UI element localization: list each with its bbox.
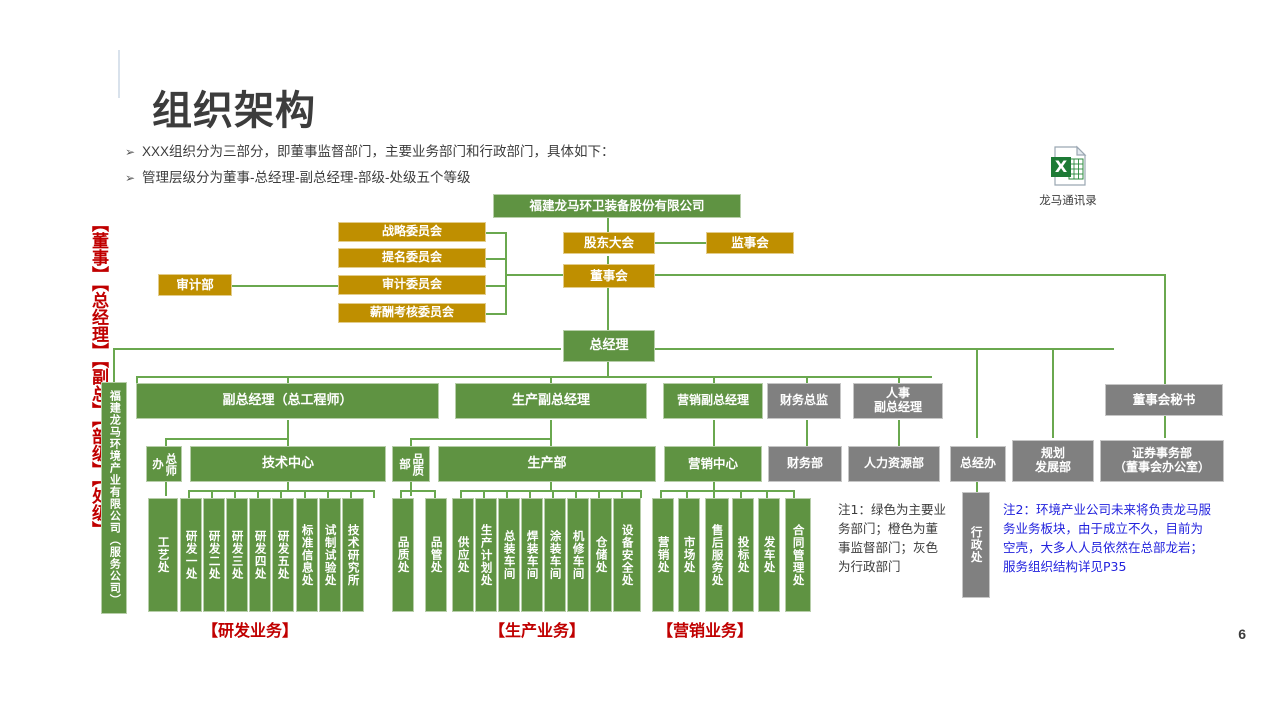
node-leaf-rd[interactable]: 试制试验处 [319, 498, 341, 612]
connector [793, 490, 795, 498]
connector [287, 482, 289, 490]
node-dept-marketing-center[interactable]: 营销中心 [664, 446, 762, 482]
connector [640, 490, 642, 498]
connector [1164, 420, 1166, 438]
note-service-company: 注2：环境产业公司未来将负责龙马服务业务板块，由于成立不久，目前为空壳，大多人人… [1003, 500, 1215, 576]
connector [485, 313, 507, 315]
connector [304, 490, 306, 498]
node-shareholders-meeting[interactable]: 股东大会 [563, 232, 655, 254]
connector [505, 274, 563, 276]
connector [1164, 274, 1166, 384]
connector [232, 285, 338, 287]
node-leaf-rd[interactable]: 研发一处 [180, 498, 202, 612]
node-leaf-mkt[interactable]: 市场处 [678, 498, 700, 612]
node-leaf-rd[interactable]: 研发二处 [203, 498, 225, 612]
node-vp-production[interactable]: 生产副总经理 [455, 383, 647, 419]
connector [165, 438, 167, 446]
connector [327, 490, 329, 498]
node-service-company[interactable]: 福建龙马环境产业有限公司（服务公司） [101, 382, 127, 614]
node-committee-strategy[interactable]: 战略委员会 [338, 222, 486, 242]
connector [529, 490, 531, 498]
node-leaf-prod[interactable]: 机修车间 [567, 498, 589, 612]
connector [506, 490, 508, 498]
connector [257, 490, 259, 498]
node-leaf-mkt[interactable]: 合同管理处 [785, 498, 811, 612]
connector [460, 490, 462, 498]
node-leaf-prod[interactable]: 品管处 [425, 498, 447, 612]
node-leaf-prod[interactable]: 供应处 [452, 498, 474, 612]
node-dept-planning-development[interactable]: 规划 发展部 [1012, 440, 1094, 482]
node-dept-chief-engineer-office[interactable]: 总师办 [146, 446, 182, 482]
node-vp-marketing[interactable]: 营销副总经理 [663, 383, 763, 419]
connector [505, 232, 507, 314]
connector [686, 490, 688, 498]
node-leaf-rd[interactable]: 标准信息处 [296, 498, 318, 612]
connector [113, 348, 115, 382]
connector [976, 482, 978, 492]
connector [660, 490, 793, 492]
node-vp-chief-engineer[interactable]: 副总经理（总工程师） [136, 383, 439, 419]
node-dept-gm-office[interactable]: 总经办 [950, 446, 1006, 482]
page-number: 6 [1238, 626, 1246, 642]
node-audit-department[interactable]: 审计部 [158, 274, 232, 296]
connector [607, 362, 609, 376]
node-dept-tech-center[interactable]: 技术中心 [190, 446, 386, 482]
tag-marketing-business: 【营销业务】 [657, 617, 753, 641]
org-chart: 福建龙马环卫装备股份有限公司 股东大会 监事会 董事会 审计部 战略委员会 提名… [0, 0, 1280, 720]
connector [350, 490, 352, 498]
connector [1052, 348, 1054, 438]
node-leaf-prod[interactable]: 设备安全处 [613, 498, 641, 612]
node-leaf-mkt[interactable]: 售后服务处 [705, 498, 729, 612]
connector [552, 490, 554, 498]
connector [550, 482, 552, 490]
connector [806, 376, 808, 383]
connector [136, 376, 932, 378]
connector [287, 420, 289, 440]
connector [898, 420, 900, 446]
connector [550, 420, 552, 440]
node-leaf-prod[interactable]: 品质处 [392, 498, 414, 612]
connector [485, 285, 507, 287]
node-leaf-rd[interactable]: 研发四处 [249, 498, 271, 612]
connector [575, 490, 577, 498]
node-leaf-prod[interactable]: 仓储处 [590, 498, 612, 612]
node-dept-finance[interactable]: 财务部 [768, 446, 842, 482]
connector [434, 490, 436, 498]
node-committee-nomination[interactable]: 提名委员会 [338, 248, 486, 268]
connector [483, 490, 485, 498]
connector [713, 376, 715, 383]
node-leaf-prod[interactable]: 焊装车间 [521, 498, 543, 612]
connector [188, 490, 190, 498]
node-board-of-directors[interactable]: 董事会 [563, 264, 655, 288]
connector [113, 348, 561, 350]
node-committee-compensation[interactable]: 薪酬考核委员会 [338, 303, 486, 323]
connector [485, 258, 507, 260]
connector [607, 288, 609, 330]
connector [660, 490, 662, 498]
slide-canvas: 组织架构 ➢ XXX组织分为三部分，即董事监督部门，主要业务部门和行政部门，具体… [0, 0, 1280, 720]
node-leaf-rd[interactable]: 研发三处 [226, 498, 248, 612]
node-board-secretary[interactable]: 董事会秘书 [1105, 384, 1223, 416]
connector [136, 376, 138, 383]
connector [654, 348, 1114, 350]
connector [550, 438, 552, 446]
connector [287, 376, 289, 383]
tag-rd-business: 【研发业务】 [202, 617, 298, 641]
tag-production-business: 【生产业务】 [489, 617, 585, 641]
connector [713, 490, 715, 498]
connector [211, 490, 213, 498]
node-leaf-prod[interactable]: 涂装车间 [544, 498, 566, 612]
connector [280, 490, 282, 498]
node-general-manager[interactable]: 总经理 [563, 330, 655, 362]
node-vp-hr[interactable]: 人事 副总经理 [853, 383, 943, 419]
node-leaf-prod[interactable]: 总装车间 [498, 498, 520, 612]
connector [460, 490, 640, 492]
connector [410, 482, 412, 496]
connector [976, 348, 978, 438]
node-dept-hr[interactable]: 人力资源部 [848, 446, 940, 482]
connector [400, 490, 402, 498]
connector [806, 420, 808, 446]
node-dept-production[interactable]: 生产部 [438, 446, 656, 482]
connector [654, 274, 1166, 276]
connector [287, 438, 289, 446]
node-leaf-rd[interactable]: 技术研究所 [342, 498, 364, 612]
connector [165, 482, 167, 496]
node-committee-audit[interactable]: 审计委员会 [338, 275, 486, 295]
node-leaf-mkt[interactable]: 营销处 [652, 498, 674, 612]
node-leaf-mkt[interactable]: 投标处 [732, 498, 754, 612]
connector [550, 376, 552, 383]
connector [598, 490, 600, 498]
connector [373, 490, 375, 498]
connector [713, 482, 715, 490]
connector [165, 438, 289, 440]
connector [234, 490, 236, 498]
node-leaf-admin[interactable]: 行政处 [962, 492, 990, 598]
node-leaf-rd[interactable]: 工艺处 [148, 498, 178, 612]
node-leaf-mkt[interactable]: 发车处 [758, 498, 780, 612]
connector [400, 490, 434, 492]
node-company[interactable]: 福建龙马环卫装备股份有限公司 [493, 194, 741, 218]
node-dept-quality[interactable]: 品质部 [392, 446, 430, 482]
node-dept-securities-affairs[interactable]: 证券事务部 （董事会办公室） [1100, 440, 1224, 482]
node-cfo[interactable]: 财务总监 [767, 383, 841, 419]
connector [766, 490, 768, 498]
connector [898, 376, 900, 383]
connector [654, 242, 706, 244]
connector [410, 438, 412, 446]
connector [740, 490, 742, 498]
connector [621, 490, 623, 498]
note-legend: 注1：绿色为主要业务部门；橙色为董事监督部门；灰色为行政部门 [838, 500, 946, 576]
node-leaf-rd[interactable]: 研发五处 [272, 498, 294, 612]
node-supervisory-board[interactable]: 监事会 [706, 232, 794, 254]
connector [485, 232, 507, 234]
node-leaf-prod[interactable]: 生产计划处 [475, 498, 497, 612]
connector [410, 438, 552, 440]
connector [713, 420, 715, 446]
